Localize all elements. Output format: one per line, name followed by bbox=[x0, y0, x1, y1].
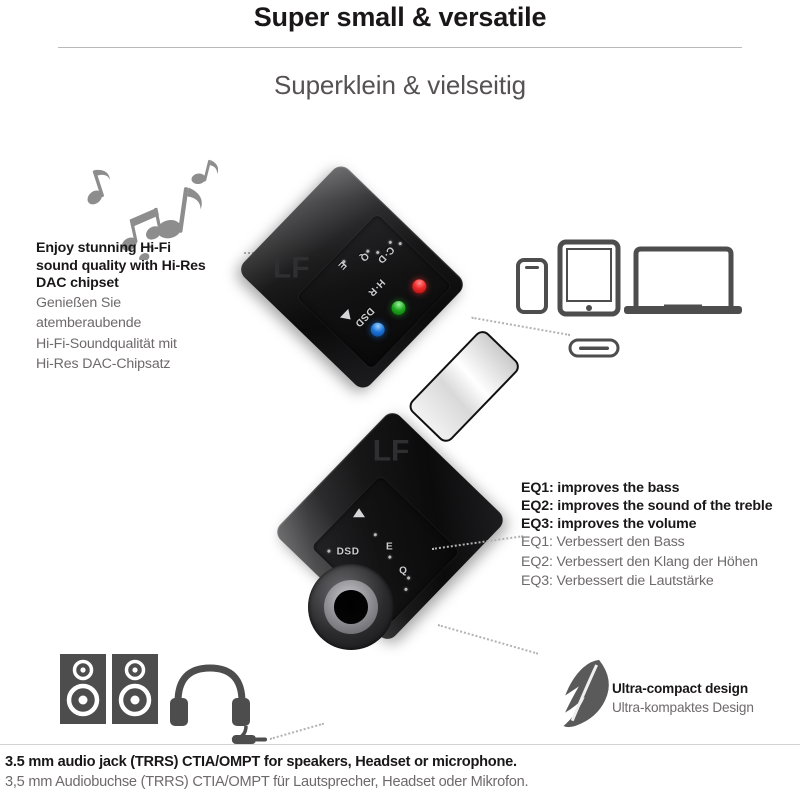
callout-hifi-de-line-4: Hi-Res DAC-Chipsatz bbox=[36, 354, 256, 375]
callout-hifi-de-line-3: Hi-Fi-Soundqualität mit bbox=[36, 334, 256, 355]
device-usbc-dac-bottom: LF DSD H·R C·D E Q bbox=[286, 392, 536, 652]
callout-hifi: Enjoy stunning Hi-Fi sound quality with … bbox=[36, 240, 256, 375]
panel-dot bbox=[366, 249, 370, 253]
callout-compact: Ultra-compact design Ultra-kompaktes Des… bbox=[612, 680, 797, 717]
callout-eq-en-line-2: EQ2: improves the sound of the treble bbox=[521, 497, 796, 515]
marking-hr-top: H·R bbox=[365, 277, 387, 299]
callout-eq-de-line-3: EQ3: Verbessert die Lautstärke bbox=[521, 572, 796, 592]
device-body-top: LF C·D H·R DSD Q E bbox=[237, 162, 468, 392]
callout-hifi-en-line-1: Enjoy stunning Hi-Fi bbox=[36, 240, 256, 258]
callout-hifi-de-line-1: Genießen Sie bbox=[36, 293, 256, 314]
marking-cd-top: C·D bbox=[375, 244, 397, 266]
laptop-icon bbox=[624, 249, 742, 314]
marking-dsd-bottom: DSD bbox=[337, 547, 360, 558]
page-title-en: Super small & versatile bbox=[0, 2, 800, 33]
tablet-icon bbox=[560, 242, 618, 314]
smartphone-icon bbox=[518, 260, 546, 312]
callout-hifi-en-line-2: sound quality with Hi-Res bbox=[36, 258, 256, 276]
callout-hifi-en-line-3: DAC chipset bbox=[36, 275, 256, 293]
usb-c-port-icon bbox=[568, 337, 620, 359]
callout-jack-en: 3.5 mm audio jack (TRRS) CTIA/OMPT for s… bbox=[5, 752, 795, 772]
panel-dot bbox=[404, 587, 408, 591]
compatible-devices-icons bbox=[512, 232, 782, 332]
callout-eq: EQ1: improves the bass EQ2: improves the… bbox=[521, 479, 796, 592]
led-blue-dsd-top bbox=[368, 320, 388, 340]
callout-compact-de: Ultra-kompaktes Design bbox=[612, 698, 797, 717]
callout-jack-de: 3,5 mm Audiobuchse (TRRS) CTIA/OMPT für … bbox=[5, 772, 795, 793]
page-title-de: Superklein & vielseitig bbox=[0, 70, 800, 101]
brand-logo-bottom: LF bbox=[373, 436, 410, 466]
panel-dot bbox=[406, 576, 410, 580]
panel-dot bbox=[327, 549, 331, 553]
callout-audio-jack: 3.5 mm audio jack (TRRS) CTIA/OMPT for s… bbox=[5, 752, 795, 793]
led-green-hr-top bbox=[389, 298, 409, 318]
panel-dot bbox=[388, 555, 392, 559]
infographic-page: Super small & versatile Superklein & vie… bbox=[0, 0, 800, 800]
callout-eq-en-line-1: EQ1: improves the bass bbox=[521, 479, 796, 497]
speakers-icon bbox=[60, 654, 158, 724]
headphones-icon bbox=[170, 668, 267, 744]
callout-eq-de-line-2: EQ2: Verbessert den Klang der Höhen bbox=[521, 553, 796, 573]
audio-output-icons bbox=[56, 650, 286, 748]
panel-dot bbox=[373, 533, 377, 537]
callout-eq-en-line-3: EQ3: improves the volume bbox=[521, 515, 796, 533]
marking-e-bottom: E bbox=[386, 542, 393, 553]
brand-logo-top: LF bbox=[273, 253, 310, 283]
led-red-cd-top bbox=[409, 277, 429, 297]
panel-dot bbox=[398, 242, 402, 246]
mode-triangle-bottom bbox=[353, 508, 365, 517]
callout-hifi-de-line-2: atemberaubende bbox=[36, 313, 256, 334]
header-divider bbox=[58, 47, 742, 48]
callout-eq-de-line-1: EQ1: Verbessert den Bass bbox=[521, 533, 796, 553]
panel-dot bbox=[388, 240, 392, 244]
callout-compact-en: Ultra-compact design bbox=[612, 680, 797, 698]
marking-q-bottom: Q bbox=[399, 565, 407, 576]
footer-divider bbox=[0, 744, 800, 745]
